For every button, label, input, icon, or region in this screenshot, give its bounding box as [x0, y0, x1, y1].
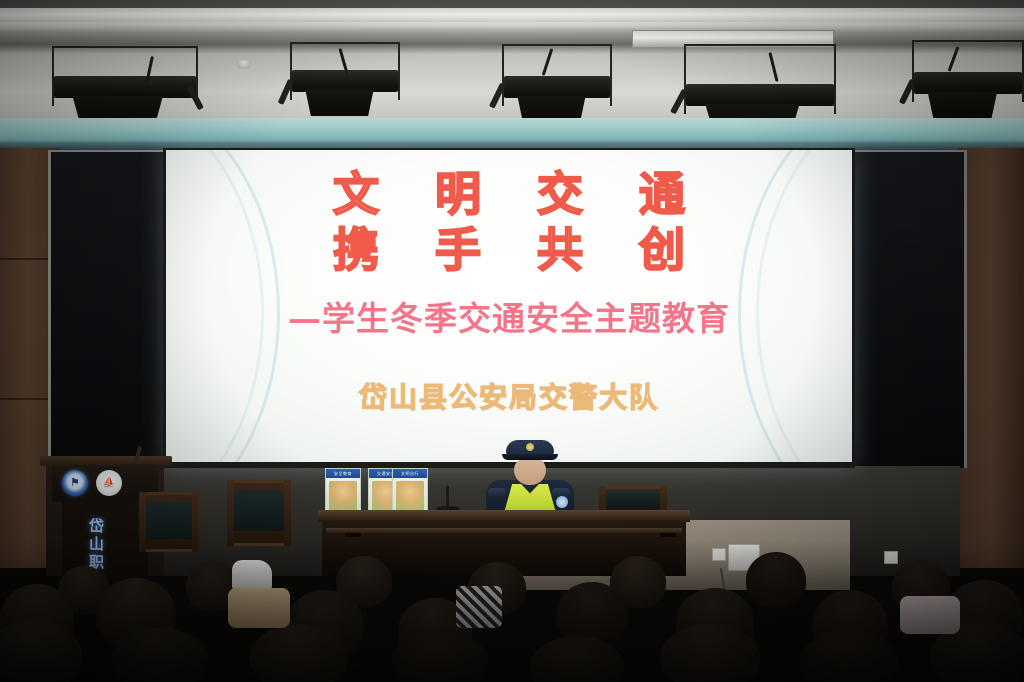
poster-header-band-3: 文明出行 [393, 469, 427, 478]
auditorium-photo: 文 明 交 通 携 手 共 创 —学生冬季交通安全主题教育 岱山县公安局交警大队… [0, 0, 1024, 682]
stage-light-1 [52, 46, 198, 106]
crest-glyph: ⚑ [71, 478, 80, 489]
left-dark-wall-panel [48, 150, 169, 468]
smoke-detector-icon [237, 60, 251, 69]
officer-cap-brim [502, 454, 558, 460]
table-notch-right [660, 533, 676, 537]
poster-header-text-3: 文明出行 [393, 469, 427, 478]
ceiling-light-strip [0, 8, 1024, 22]
wall-socket-right [884, 551, 898, 564]
officer-cap-badge-icon [526, 443, 534, 451]
officer-shoulder-left [488, 488, 506, 497]
slide-title-line-2: 携 手 共 创 [313, 222, 705, 278]
slide-organization: 岱山县公安局交警大队 [359, 376, 659, 416]
audience-checkered-garment [456, 586, 502, 628]
slide-subtitle: —学生冬季交通安全主题教育 [288, 292, 730, 340]
poster-board-1: 安全教育 [325, 468, 361, 516]
stage-table-top [318, 510, 690, 522]
traffic-police-officer [480, 440, 580, 516]
poster-header-band-1: 安全教育 [326, 469, 360, 478]
stage-chair-left-2 [140, 492, 198, 552]
audience-head [746, 552, 806, 608]
school-crest-emblem: ⚑ [62, 470, 88, 496]
stage-light-5 [912, 40, 1024, 102]
officer-head [514, 457, 546, 485]
podium-top-surface [40, 456, 172, 466]
slide-title-line-1: 文 明 交 通 [313, 166, 705, 222]
right-dark-wall-panel [852, 150, 967, 468]
right-wood-wall [958, 148, 1024, 568]
table-notch-left [345, 533, 361, 537]
stage-chair-left-1 [228, 480, 290, 546]
officer-arm-badge [556, 496, 568, 508]
sailboat-glyph: ⛵ [103, 478, 115, 489]
audience-head [250, 624, 348, 682]
audience-head [660, 624, 760, 682]
sailboat-emblem: ⛵ [96, 470, 122, 496]
stage-light-2 [290, 42, 400, 100]
stage-table-trim [326, 528, 682, 534]
poster-header-text-1: 安全教育 [326, 469, 360, 478]
poster-image-1 [329, 481, 357, 511]
wall-socket-left [712, 548, 726, 561]
audience-head [112, 628, 208, 682]
projection-screen: 文 明 交 通 携 手 共 创 —学生冬季交通安全主题教育 岱山县公安局交警大队 [166, 150, 852, 462]
poster-image-3 [396, 481, 424, 511]
ceiling [0, 0, 1024, 44]
poster-board-3: 文明出行 [392, 468, 428, 516]
stage-light-4 [684, 44, 836, 114]
stage-light-3 [502, 44, 612, 106]
audience-pink-jacket [900, 596, 960, 634]
audience-beige-coat [228, 588, 290, 628]
audience-head [392, 630, 488, 682]
